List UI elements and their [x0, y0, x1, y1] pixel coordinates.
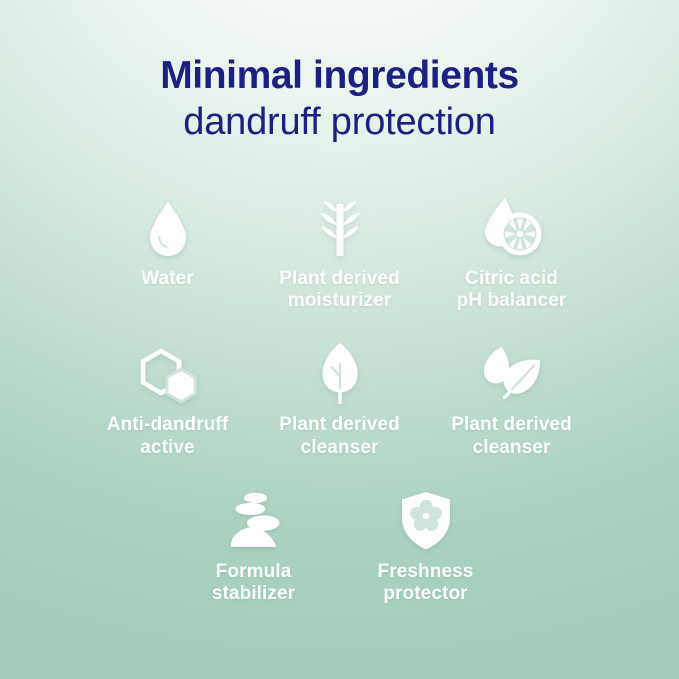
page-title-line-2: dandruff protection: [0, 103, 679, 141]
single-leaf-icon: [317, 342, 363, 404]
water-droplet-icon: [146, 196, 190, 258]
citrus-slice-droplet-icon: [479, 196, 545, 258]
ingredient-label: Citric acid pH balancer: [457, 268, 567, 312]
ingredients-infographic: Minimal ingredients dandruff protection …: [0, 0, 679, 679]
double-leaf-icon: [479, 342, 545, 404]
ingredient-label: Water: [141, 268, 194, 290]
shield-flower-icon: [400, 489, 452, 551]
ingredient-row-2: Anti-dandruff active Plant derived clean…: [0, 342, 679, 458]
ingredient-label: Plant derived moisturizer: [279, 268, 400, 312]
ingredient-grid: Water: [0, 196, 679, 605]
ingredient-row-3: Formula stabilizer: [0, 489, 679, 605]
ingredient-label: Formula stabilizer: [212, 561, 295, 605]
ingredient-row-1: Water: [0, 196, 679, 312]
ingredient-anti-dandruff-active: Anti-dandruff active: [82, 342, 254, 458]
ingredient-water: Water: [82, 196, 254, 290]
ingredient-label: Plant derived cleanser: [451, 414, 572, 458]
ingredient-label: Freshness protector: [378, 561, 474, 605]
ingredient-label: Plant derived cleanser: [279, 414, 400, 458]
page-title-line-1: Minimal ingredients: [0, 56, 679, 95]
ingredient-formula-stabilizer: Formula stabilizer: [168, 489, 340, 605]
stacked-stones-icon: [223, 489, 285, 551]
ingredient-plant-derived-moisturizer: Plant derived moisturizer: [254, 196, 426, 312]
ingredient-citric-acid: Citric acid pH balancer: [426, 196, 598, 312]
ingredient-plant-derived-cleanser-1: Plant derived cleanser: [254, 342, 426, 458]
ingredient-plant-derived-cleanser-2: Plant derived cleanser: [426, 342, 598, 458]
ingredient-label: Anti-dandruff active: [107, 414, 229, 458]
page-title: Minimal ingredients dandruff protection: [0, 56, 679, 141]
ingredient-freshness-protector: Freshness protector: [340, 489, 512, 605]
hexagon-molecule-icon: [137, 342, 199, 404]
plant-sprout-icon: [314, 196, 366, 258]
